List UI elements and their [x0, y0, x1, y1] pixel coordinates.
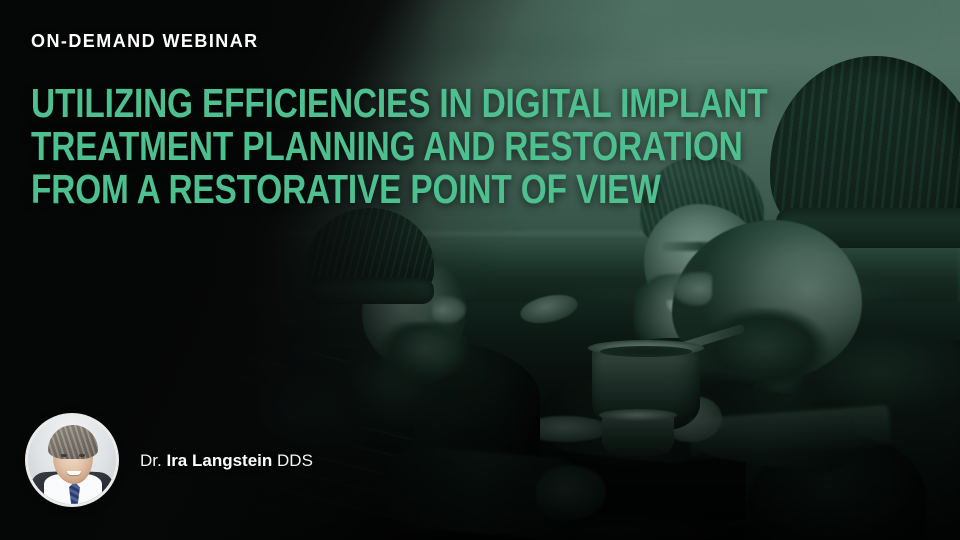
headline-line-3: FROM A RESTORATIVE POINT OF VIEW: [31, 168, 634, 211]
headline-line-2: TREATMENT PLANNING AND RESTORATION: [31, 125, 634, 168]
speaker-name: Dr. Ira Langstein DDS: [140, 452, 313, 469]
smile: [67, 471, 81, 475]
speaker-credit: Dr. Ira Langstein DDS: [28, 416, 313, 504]
eyebrow-label: ON-DEMAND WEBINAR: [31, 32, 259, 50]
avatar: [28, 416, 116, 504]
webinar-promo-slide: ON-DEMAND WEBINAR UTILIZING EFFICIENCIES…: [0, 0, 960, 540]
eye-left: [61, 454, 67, 457]
headline-line-1: UTILIZING EFFICIENCIES IN DIGITAL IMPLAN…: [31, 82, 634, 125]
speaker-full-name: Ira Langstein: [166, 451, 272, 470]
eye-right: [79, 454, 85, 457]
speaker-prefix: Dr.: [140, 451, 162, 470]
page-title: UTILIZING EFFICIENCIES IN DIGITAL IMPLAN…: [31, 82, 771, 211]
slide-content: ON-DEMAND WEBINAR UTILIZING EFFICIENCIES…: [0, 0, 960, 540]
speaker-credentials: DDS: [277, 451, 313, 470]
